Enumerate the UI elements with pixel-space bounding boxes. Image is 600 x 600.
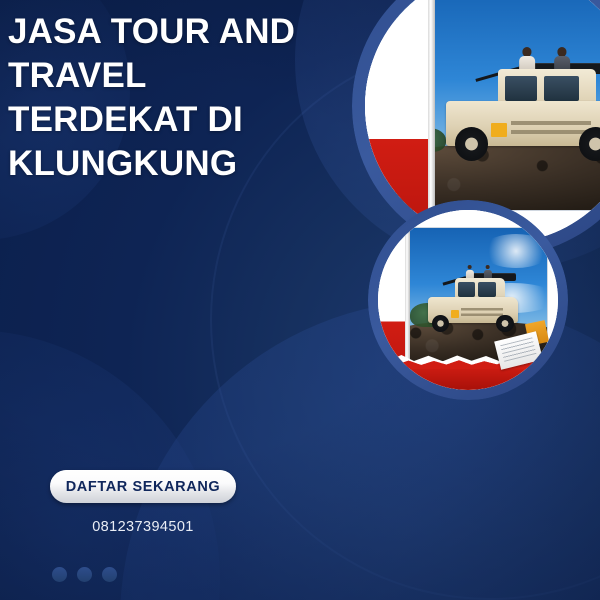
national-geographic-logo-icon	[491, 123, 507, 137]
headline-line-3: TERDEKAT DI	[8, 98, 338, 142]
jeep-wheel	[579, 127, 600, 160]
phone-number[interactable]: 081237394501	[50, 519, 236, 535]
jeep-tour-photo-small	[378, 210, 558, 390]
jeep-wheel	[496, 315, 513, 332]
page-title: JASA TOUR AND TRAVEL TERDEKAT DI KLUNGKU…	[8, 10, 338, 186]
national-geographic-wordmark	[511, 121, 591, 139]
daftar-sekarang-button[interactable]: DAFTAR SEKARANG	[50, 470, 236, 503]
jeep-wheel	[432, 315, 449, 332]
headline-line-1: JASA TOUR AND	[8, 10, 338, 54]
carousel-dot[interactable]	[102, 567, 117, 582]
jeep-wheel	[455, 127, 488, 160]
jeep-vehicle	[446, 71, 600, 161]
jeep-window	[505, 76, 536, 101]
national-geographic-wordmark	[461, 308, 503, 319]
headline-line-2: TRAVEL	[8, 54, 338, 98]
passenger-figure	[554, 47, 570, 70]
passenger-figure	[484, 265, 492, 279]
carousel-dot[interactable]	[52, 567, 67, 582]
background-arc-bottom-left	[0, 330, 220, 600]
passenger-head	[523, 47, 532, 56]
passenger-figure	[519, 47, 535, 70]
passenger-figure	[466, 265, 474, 279]
passenger-head	[558, 47, 567, 56]
passenger-head	[485, 265, 490, 270]
national-geographic-logo-icon	[451, 310, 459, 319]
torn-paper-red-edge	[378, 365, 558, 390]
passenger-head	[467, 265, 472, 270]
medallion-inner-small	[378, 210, 558, 390]
jeep-vehicle	[428, 279, 518, 332]
jeep-window	[458, 282, 474, 297]
photo-medallion-small	[368, 200, 568, 400]
photo-frame-left-flag	[365, 0, 431, 243]
cloud-icon	[481, 234, 547, 268]
headline-line-4: KLUNGKUNG	[8, 142, 338, 186]
jeep-window	[544, 76, 579, 101]
jeep-window	[478, 282, 496, 297]
carousel-dot[interactable]	[77, 567, 92, 582]
promo-poster: JASA TOUR AND TRAVEL TERDEKAT DI KLUNGKU…	[0, 0, 600, 600]
carousel-dots[interactable]	[52, 567, 117, 582]
